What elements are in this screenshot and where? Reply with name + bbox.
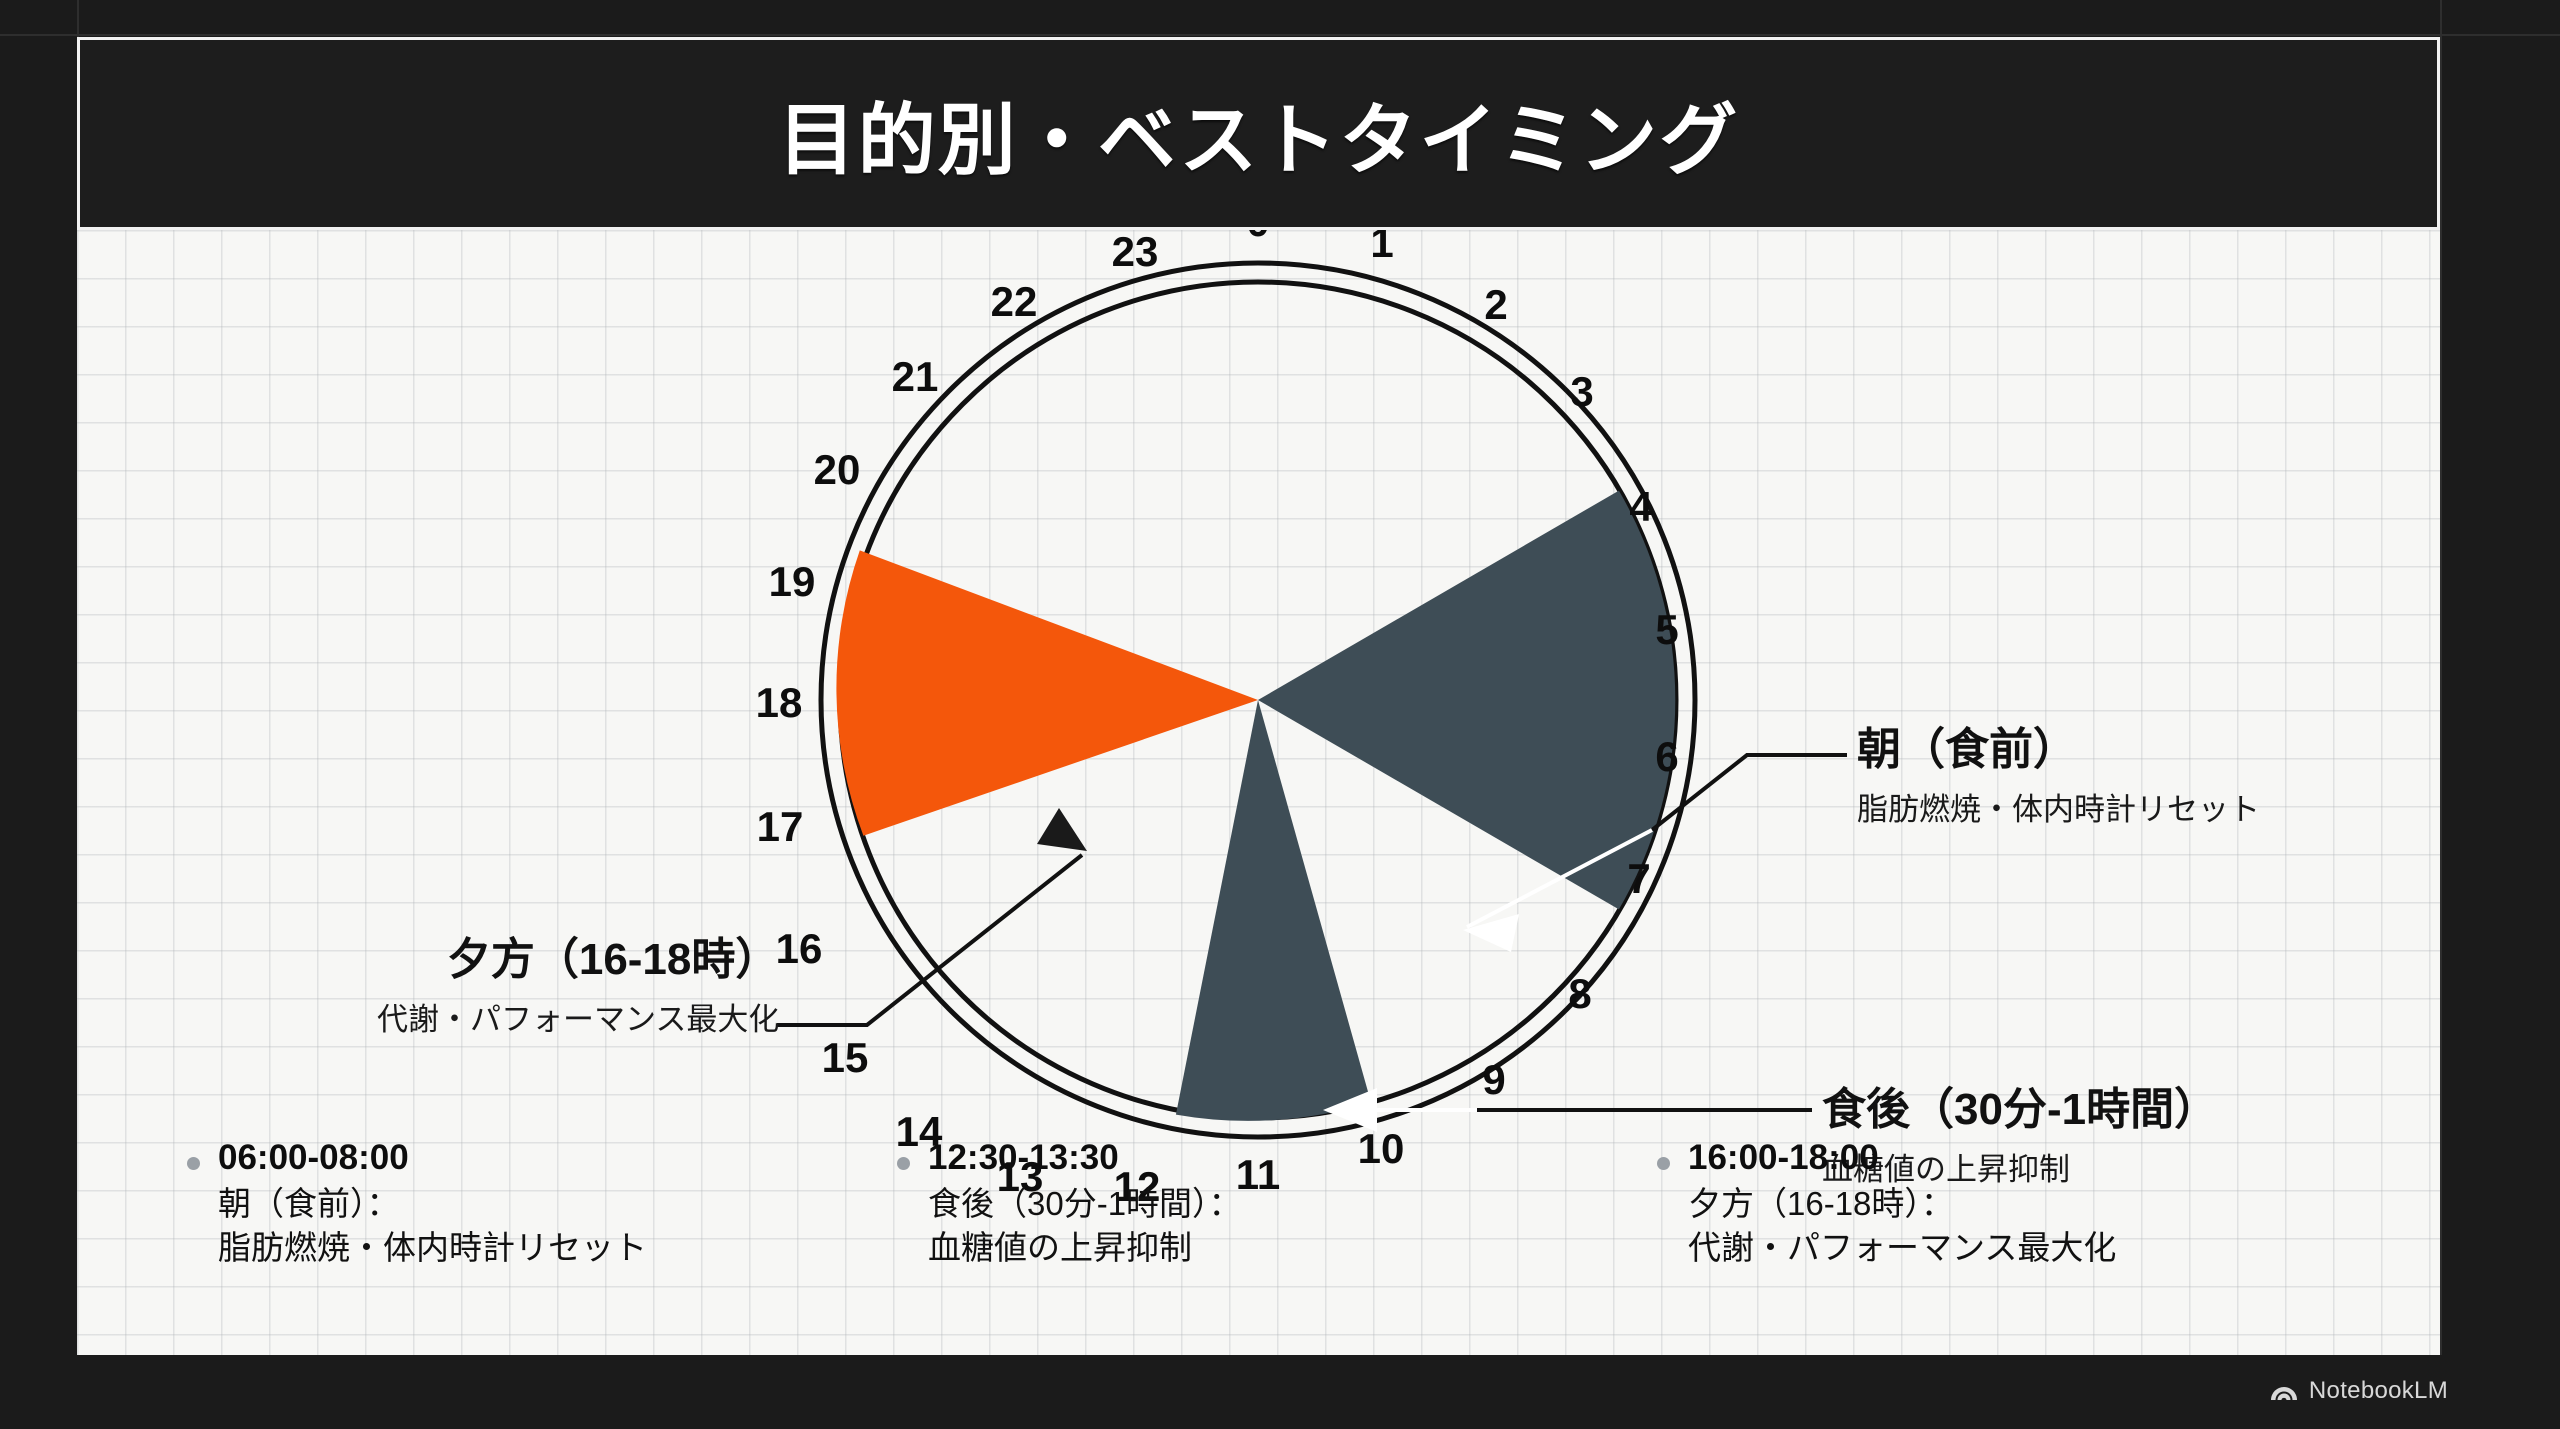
annotation-evening-title: 夕方（16-18時） — [377, 935, 779, 986]
hour-label-19: 19 — [769, 558, 816, 605]
annotation-morning: 朝（食前） 脂肪燃焼・体内時計リセット — [1857, 725, 2260, 829]
annotation-evening: 夕方（16-18時） 代謝・パフォーマンス最大化 — [377, 935, 779, 1039]
annotation-evening-sub: 代謝・パフォーマンス最大化 — [377, 994, 779, 1039]
notebooklm-watermark: NotebookLM — [2269, 1377, 2448, 1405]
slide-stage: 目的別・ベストタイミング 0 1 2 3 — [0, 0, 2560, 1429]
annotation-morning-title: 朝（食前） — [1857, 725, 2260, 776]
legend-evening-line2: 代謝・パフォーマンス最大化 — [1688, 1226, 2116, 1270]
legend-evening-line1: 夕方（16-18時）： — [1688, 1182, 2116, 1226]
arrowhead-evening — [1037, 808, 1087, 851]
hour-label-6: 6 — [1655, 733, 1678, 780]
slice-postmeal[interactable] — [1176, 700, 1371, 1121]
bullet-dot-icon — [897, 1157, 910, 1170]
hour-label-3: 3 — [1570, 368, 1593, 415]
hour-label-18: 18 — [756, 679, 803, 726]
slide-body: 0 1 2 3 4 5 6 7 8 9 10 11 12 13 14 15 16 — [77, 230, 2440, 1355]
footer-strip — [0, 1355, 2560, 1429]
hour-label-15: 15 — [822, 1034, 869, 1081]
hour-label-2: 2 — [1484, 281, 1507, 328]
notebooklm-spiral-icon — [2269, 1379, 2299, 1403]
bullet-dot-icon — [187, 1157, 200, 1170]
legend-morning-line1: 朝（食前）： — [218, 1182, 647, 1226]
panel-seam-top — [0, 34, 2560, 36]
page-title: 目的別・ベストタイミング — [778, 78, 1740, 190]
hour-label-4: 4 — [1629, 483, 1653, 530]
annotation-morning-sub: 脂肪燃焼・体内時計リセット — [1857, 784, 2260, 829]
legend-postmeal-line2: 血糖値の上昇抑制 — [928, 1226, 1242, 1270]
slice-morning[interactable] — [1258, 491, 1675, 910]
legend: 06:00-08:00 朝（食前）： 脂肪燃焼・体内時計リセット 12:30-1… — [77, 1135, 2440, 1270]
hour-label-7: 7 — [1627, 855, 1650, 902]
slide-header: 目的別・ベストタイミング — [77, 37, 2440, 230]
hour-label-16: 16 — [776, 925, 823, 972]
bullet-dot-icon — [1657, 1157, 1670, 1170]
hour-label-0: 0 — [1246, 230, 1269, 245]
slide-card: 目的別・ベストタイミング 0 1 2 3 — [77, 37, 2440, 1355]
hour-label-23: 23 — [1112, 230, 1159, 275]
legend-morning-line2: 脂肪燃焼・体内時計リセット — [218, 1226, 647, 1270]
hour-label-21: 21 — [892, 353, 939, 400]
arrowhead-morning — [1463, 914, 1519, 952]
hour-label-5: 5 — [1655, 606, 1678, 653]
legend-evening-time: 16:00-18:00 — [1688, 1135, 2116, 1182]
hour-label-20: 20 — [814, 446, 861, 493]
hour-label-8: 8 — [1568, 970, 1591, 1017]
legend-postmeal-time: 12:30-13:30 — [928, 1135, 1242, 1182]
hour-label-1: 1 — [1370, 230, 1393, 266]
legend-postmeal-line1: 食後（30分-1時間）： — [928, 1182, 1242, 1226]
hour-label-17: 17 — [757, 803, 804, 850]
notebooklm-label: NotebookLM — [2309, 1377, 2448, 1405]
panel-seam-right — [2440, 0, 2442, 1429]
slice-evening[interactable] — [836, 550, 1258, 835]
legend-morning-time: 06:00-08:00 — [218, 1135, 647, 1182]
legend-item-postmeal: 12:30-13:30 食後（30分-1時間）： 血糖値の上昇抑制 — [897, 1135, 1657, 1270]
annotation-postmeal-title: 食後（30分-1時間） — [1822, 1085, 2218, 1136]
legend-item-evening: 16:00-18:00 夕方（16-18時）： 代謝・パフォーマンス最大化 — [1657, 1135, 2357, 1270]
hour-label-22: 22 — [991, 278, 1038, 325]
legend-item-morning: 06:00-08:00 朝（食前）： 脂肪燃焼・体内時計リセット — [77, 1135, 897, 1270]
hour-label-9: 9 — [1482, 1056, 1505, 1103]
